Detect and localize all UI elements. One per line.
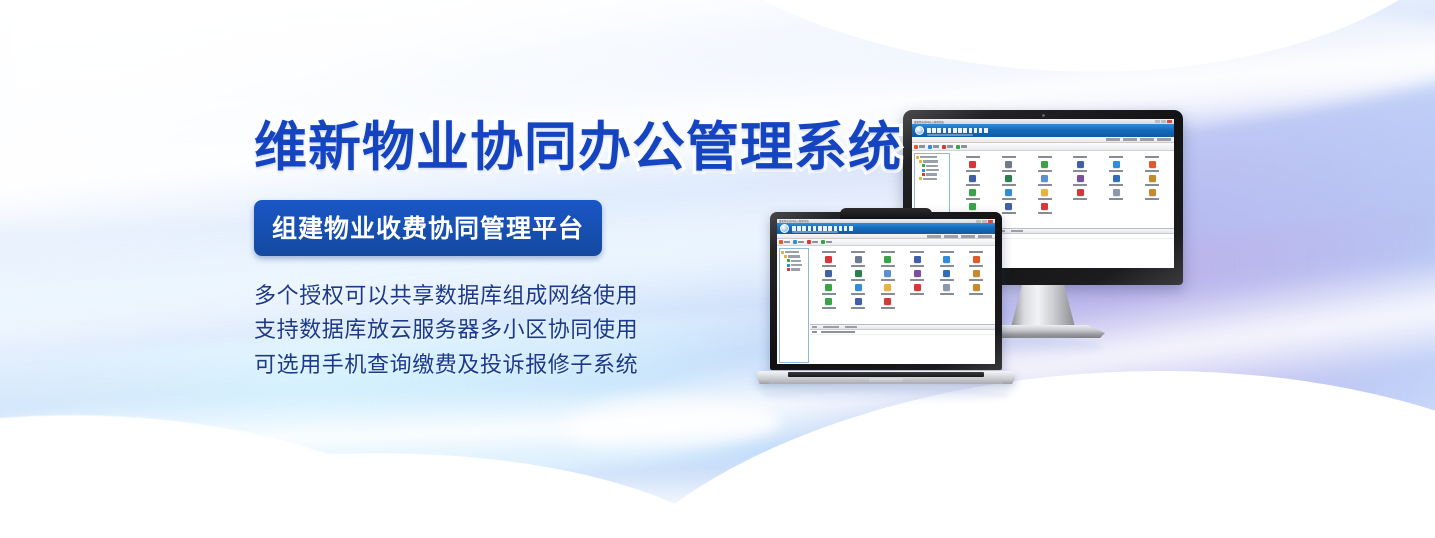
- module-icon: [1149, 189, 1156, 196]
- module-icon-收费项目[interactable]: [1027, 160, 1063, 172]
- module-icon-label: [1038, 212, 1052, 214]
- toolbar-button-add[interactable]: [914, 145, 925, 149]
- add-icon: [914, 145, 918, 149]
- module-icon: [1041, 175, 1048, 182]
- module-icon: [943, 270, 950, 277]
- module-icon-label: [910, 293, 924, 295]
- grid-column-caption: [1027, 155, 1063, 158]
- refresh-icon: [956, 145, 960, 149]
- module-icon-label: [940, 279, 954, 281]
- module-icon-label: [1002, 184, 1016, 186]
- module-icon-报修管理[interactable]: [1098, 174, 1134, 186]
- module-icon-权限分配[interactable]: [1027, 202, 1063, 214]
- module-icon: [1041, 161, 1048, 168]
- module-icon-label: [969, 293, 983, 295]
- grid-column-caption: [1098, 155, 1134, 158]
- module-icon: [1149, 175, 1156, 182]
- module-icon-员工管理[interactable]: [955, 188, 991, 200]
- module-icon-label: [1145, 198, 1159, 200]
- menu-item-3[interactable]: [1157, 138, 1171, 141]
- module-icon-label: [969, 265, 983, 267]
- module-icon-车位管理[interactable]: [1027, 174, 1063, 186]
- toolbar-button-delete[interactable]: [942, 145, 953, 149]
- module-icon-label: [1073, 184, 1087, 186]
- module-icon-财务凭证[interactable]: [962, 283, 992, 295]
- module-icon-财务凭证[interactable]: [1134, 188, 1170, 200]
- app-logo-icon: [915, 126, 924, 135]
- tree-node[interactable]: [916, 169, 947, 172]
- node-icon: [922, 169, 925, 172]
- menu-item-3[interactable]: [978, 235, 992, 238]
- module-icon: [1113, 161, 1120, 168]
- grid-column-caption: [932, 250, 962, 253]
- grid-column-caption: [903, 250, 933, 253]
- module-icon-label: [1145, 170, 1159, 172]
- toolbar-button-refresh[interactable]: [956, 145, 967, 149]
- menu-item-0[interactable]: [1106, 138, 1120, 141]
- module-icon-欠费查询[interactable]: [962, 255, 992, 267]
- toolbar-button-edit[interactable]: [928, 145, 939, 149]
- module-icon-label: [966, 198, 980, 200]
- module-icon: [943, 256, 950, 263]
- module-icon: [914, 284, 921, 291]
- maximize-icon[interactable]: [1161, 120, 1166, 123]
- monitor-stand-neck: [1011, 285, 1075, 327]
- module-icon-label: [1038, 198, 1052, 200]
- module-icon-通知公告[interactable]: [1027, 188, 1063, 200]
- module-icon-label: [966, 184, 980, 186]
- module-icon-投诉记录[interactable]: [1062, 174, 1098, 186]
- edit-icon: [928, 145, 932, 149]
- module-icon-房屋信息[interactable]: [991, 160, 1027, 172]
- module-icon-label: [1145, 184, 1159, 186]
- module-icon-label: [940, 293, 954, 295]
- module-icon-label: [966, 170, 980, 172]
- module-icon-库存管理[interactable]: [1098, 188, 1134, 200]
- module-icon: [1005, 161, 1012, 168]
- module-icon-费用标准[interactable]: [1062, 160, 1098, 172]
- module-icon: [973, 270, 980, 277]
- module-icon-label: [1002, 170, 1016, 172]
- module-icon: [969, 203, 976, 210]
- menu-item-1[interactable]: [1123, 138, 1137, 141]
- tree-node[interactable]: [916, 177, 947, 180]
- app-toolbar[interactable]: [912, 143, 1174, 151]
- subtitle-badge: 组建物业收费协同管理平台: [254, 200, 602, 256]
- promo-banner: 维新物业协同办公管理系统: [0, 0, 1435, 538]
- module-icon-label: [1073, 198, 1087, 200]
- module-icon-label: [1038, 184, 1052, 186]
- module-icon-label: [910, 279, 924, 281]
- module-icon-巡检记录[interactable]: [962, 269, 992, 281]
- minimize-icon[interactable]: [1155, 120, 1160, 123]
- grid-column-caption: [991, 155, 1027, 158]
- tree-node[interactable]: [916, 156, 947, 159]
- module-icon-label: [1109, 198, 1123, 200]
- module-icon-label: [1109, 184, 1123, 186]
- laptop-reflection: [762, 386, 1010, 404]
- module-icon: [1041, 203, 1048, 210]
- app-window-title: 维新物业协同办公管理系统: [913, 120, 944, 124]
- delete-icon: [942, 145, 946, 149]
- module-icon-业主档案[interactable]: [955, 160, 991, 172]
- banner-copy: 维新物业协同办公管理系统 组建物业收费协同管理平台 多个授权可以共享数据库组成网…: [254, 120, 894, 383]
- grid-column-caption: [955, 155, 991, 158]
- node-icon: [922, 173, 925, 176]
- window-controls[interactable]: [1155, 120, 1173, 123]
- module-icon: [914, 270, 921, 277]
- module-icon-label: [940, 265, 954, 267]
- module-icon-label: [1073, 170, 1087, 172]
- module-icon-水电抄表[interactable]: [955, 174, 991, 186]
- module-icon-费用标准[interactable]: [903, 255, 933, 267]
- folder-icon: [919, 160, 922, 163]
- module-icon: [973, 284, 980, 291]
- module-icon: [1077, 161, 1084, 168]
- module-icon-投诉记录[interactable]: [903, 269, 933, 281]
- module-icon-label: [910, 265, 924, 267]
- module-icon: [969, 161, 976, 168]
- feature-line: 可选用手机查询缴费及投诉报修子系统: [254, 349, 894, 383]
- close-icon[interactable]: [1167, 120, 1172, 123]
- module-icon-label: [969, 279, 983, 281]
- module-icon-物业收费[interactable]: [932, 255, 962, 267]
- module-icon-报修管理[interactable]: [932, 269, 962, 281]
- tree-node[interactable]: [916, 160, 947, 163]
- menu-item-0[interactable]: [927, 235, 941, 238]
- module-icon: [1005, 203, 1012, 210]
- module-icon: [1077, 189, 1084, 196]
- app-brand-title: [927, 128, 988, 133]
- menu-item-2[interactable]: [961, 235, 975, 238]
- grid-column-caption: [1062, 155, 1098, 158]
- module-icon: [1149, 161, 1156, 168]
- folder-icon: [919, 177, 922, 180]
- module-icon: [1113, 175, 1120, 182]
- module-icon: [1041, 189, 1048, 196]
- grid-column-caption: [1134, 155, 1170, 158]
- laptop-foot-right: [1003, 378, 1013, 384]
- grid-column-caption: [962, 250, 992, 253]
- module-icon-物业收费[interactable]: [1098, 160, 1134, 172]
- module-icon-巡检记录[interactable]: [1134, 174, 1170, 186]
- node-icon: [922, 164, 925, 167]
- module-icon: [1113, 189, 1120, 196]
- module-icon-部门设置[interactable]: [991, 188, 1027, 200]
- module-icon: [943, 284, 950, 291]
- module-icon-合同管理[interactable]: [1062, 188, 1098, 200]
- tree-node[interactable]: [916, 173, 947, 176]
- monitor-camera-icon: [1042, 114, 1045, 117]
- module-icon-欠费查询[interactable]: [1134, 160, 1170, 172]
- module-icon-库存管理[interactable]: [932, 283, 962, 295]
- feature-line: 多个授权可以共享数据库组成网络使用: [254, 280, 894, 314]
- module-icon-label: [1038, 170, 1052, 172]
- module-icon-合同管理[interactable]: [903, 283, 933, 295]
- module-icon: [1005, 175, 1012, 182]
- app-brand-banner: [912, 124, 1174, 137]
- feature-line: 支持数据库放云服务器多小区协同使用: [254, 314, 894, 348]
- module-icon: [969, 189, 976, 196]
- menu-item-1[interactable]: [944, 235, 958, 238]
- module-icon-label: [1109, 170, 1123, 172]
- folder-icon: [916, 156, 919, 159]
- menu-item-2[interactable]: [1140, 138, 1154, 141]
- module-icon: [973, 256, 980, 263]
- module-icon: [1005, 189, 1012, 196]
- module-icon: [969, 175, 976, 182]
- module-icon-label: [1002, 198, 1016, 200]
- page-title: 维新物业协同办公管理系统: [254, 120, 894, 176]
- app-brand-subtitle: [927, 134, 973, 136]
- module-icon-报表统计[interactable]: [991, 174, 1027, 186]
- module-icon: [1077, 175, 1084, 182]
- module-icon: [914, 256, 921, 263]
- tree-node[interactable]: [916, 164, 947, 167]
- feature-list: 多个授权可以共享数据库组成网络使用 支持数据库放云服务器多小区协同使用 可选用手…: [254, 280, 894, 383]
